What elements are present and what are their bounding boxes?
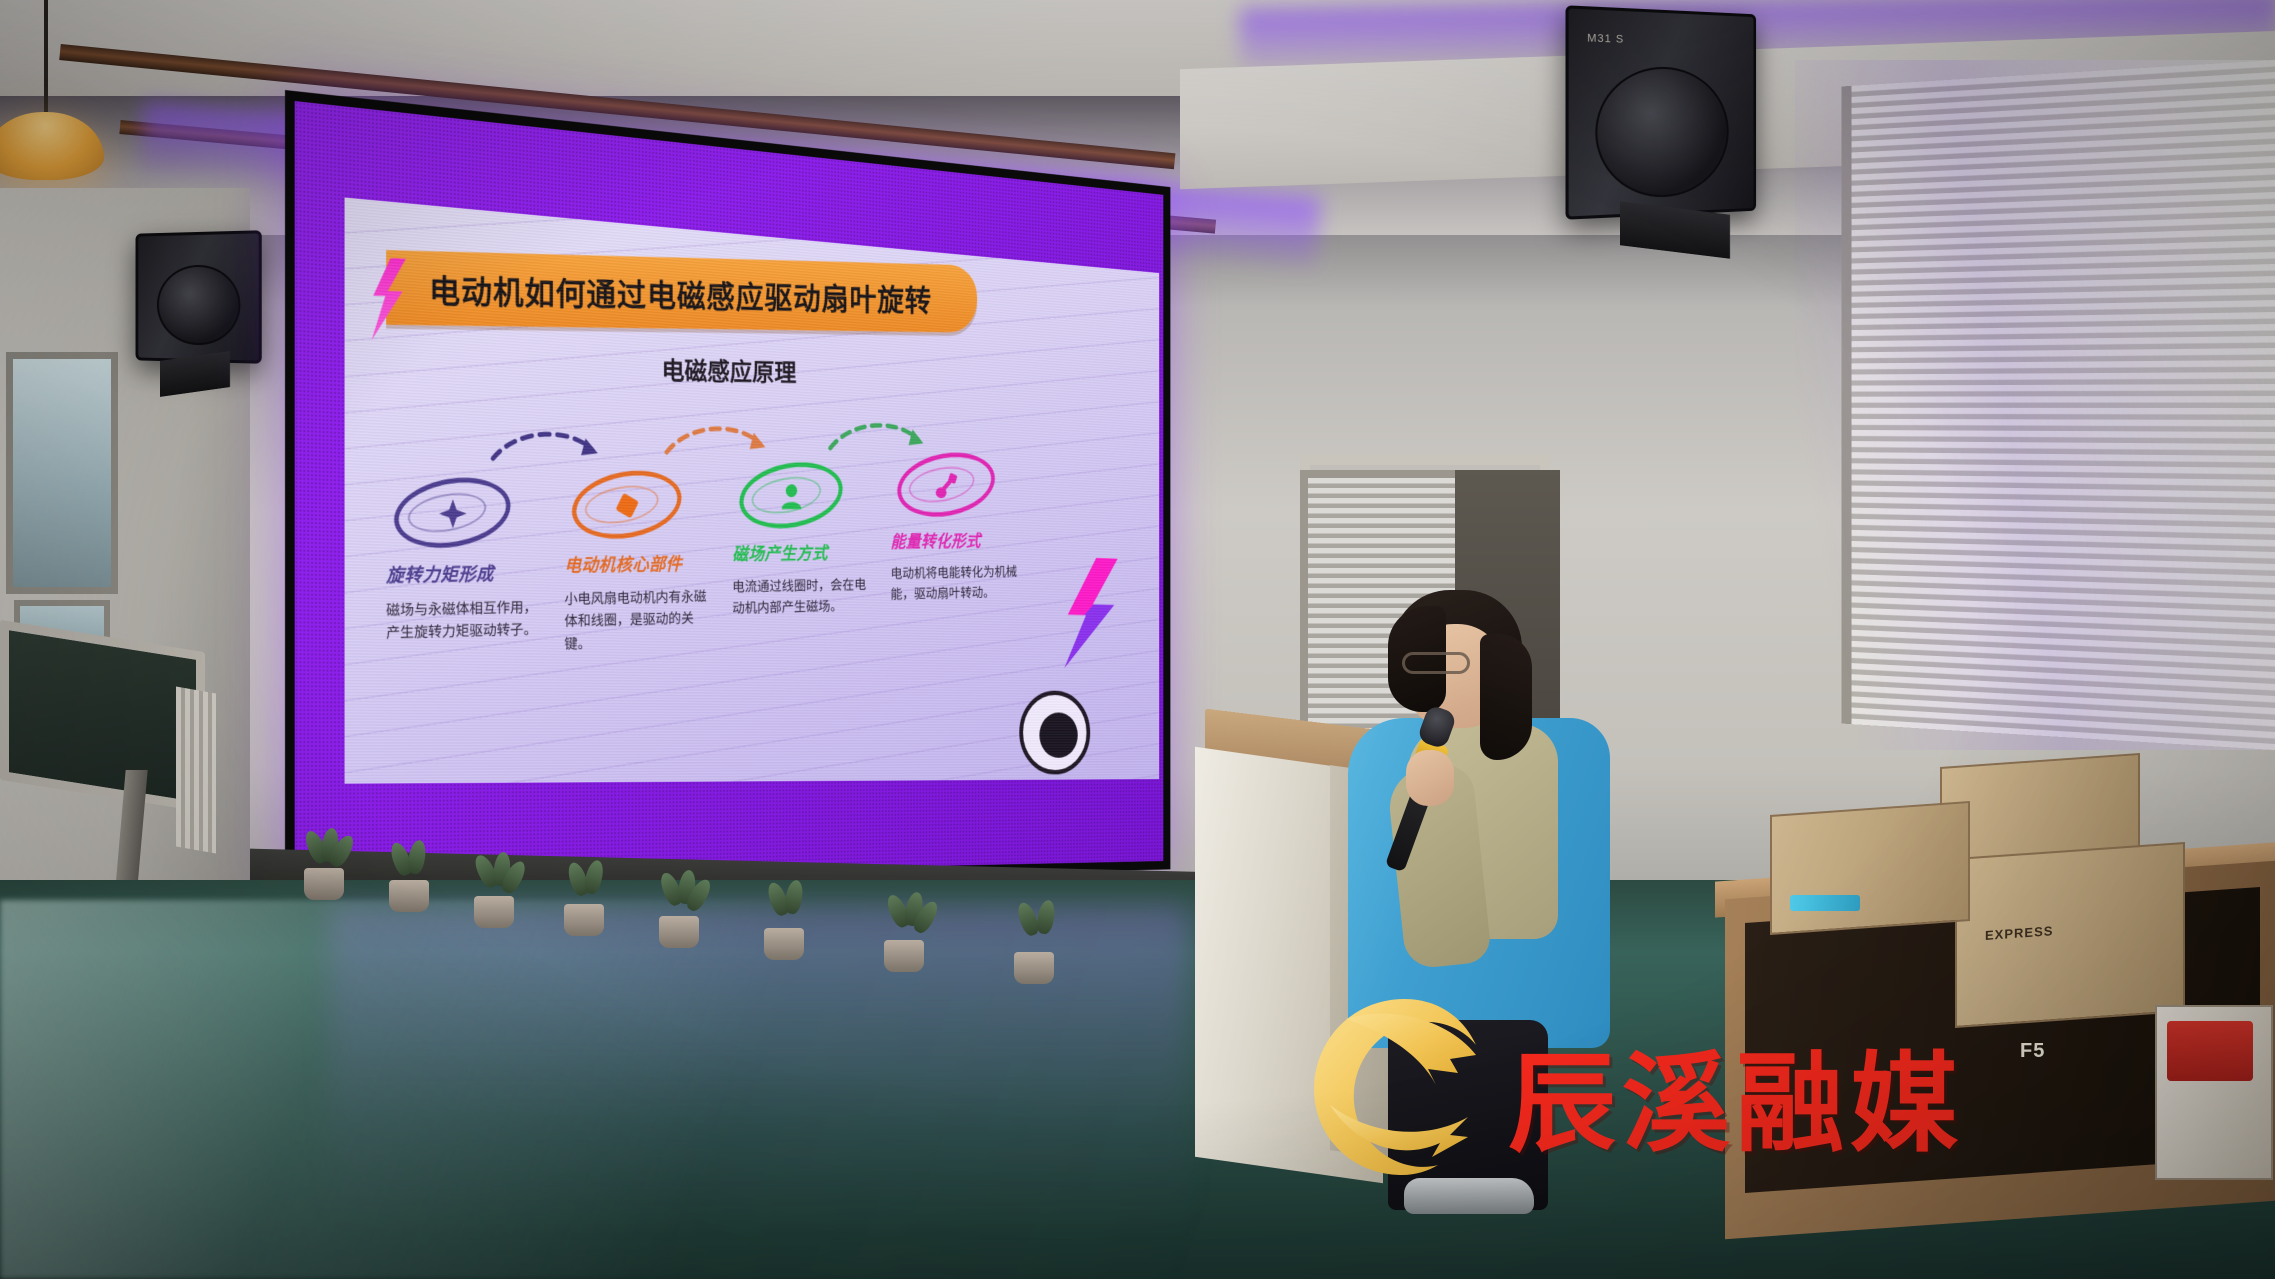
slide-column-3: 磁场产生方式 电流通过线圈时，会在电动机内部产生磁场。 <box>732 450 882 620</box>
column-3-heading: 磁场产生方式 <box>732 539 882 565</box>
crescent-swoosh-logo <box>1300 985 1510 1185</box>
blackboard <box>0 620 205 812</box>
led-display-wall[interactable]: 电动机如何通过电磁感应驱动扇叶旋转 电磁感应原理 <box>285 90 1170 890</box>
photo-scene: M31 S 电动机如何通过电磁感应驱动扇叶旋转 电磁感应原理 <box>0 0 2275 1279</box>
potted-plant <box>470 852 526 928</box>
potted-plant <box>560 860 616 936</box>
column-3-body: 电流通过线圈时，会在电动机内部产生磁场。 <box>732 575 875 620</box>
watermark: 辰溪融媒 <box>1300 975 1970 1205</box>
column-2-icon-wrap <box>564 458 724 546</box>
slide-subtitle: 电磁感应原理 <box>662 350 797 389</box>
speaker-cone <box>1595 66 1728 200</box>
speaker-left <box>136 230 262 363</box>
potted-plant <box>300 828 356 900</box>
speaker-brand-label: M31 S <box>1587 32 1624 46</box>
potted-plant <box>385 840 441 912</box>
column-4-body: 电动机将电能转化为机械能，驱动扇叶转动。 <box>891 562 1026 606</box>
potted-plant <box>1010 900 1070 984</box>
cardboard-box-large: EXPRESS <box>1955 842 2185 1028</box>
pin-icon <box>931 468 962 504</box>
slide-column-2: 电动机核心部件 小电风扇电动机内有永磁体和线圈，是驱动的关键。 <box>564 458 724 655</box>
shelf-label: F5 <box>2020 1040 2045 1063</box>
radiator <box>176 686 216 853</box>
left-window <box>6 352 118 594</box>
column-3-icon-wrap <box>732 450 882 535</box>
presenter-hair-right <box>1480 634 1532 760</box>
product-box <box>2155 1005 2273 1180</box>
potted-plant <box>655 870 711 948</box>
speaker-right: M31 S <box>1566 5 1757 219</box>
column-4-heading: 能量转化形式 <box>891 528 1033 553</box>
presenter-glasses <box>1402 652 1470 674</box>
slide-columns: 旋转力矩形成 磁场与永磁体相互作用，产生旋转力矩驱动转子。 电动机核心部件 小电… <box>365 409 1152 711</box>
window-light-glow <box>1795 60 2275 750</box>
column-4-icon-wrap <box>891 441 1033 524</box>
slide-title-ribbon: 电动机如何通过电磁感应驱动扇叶旋转 <box>386 250 977 333</box>
speaker-cone-left <box>157 264 241 345</box>
column-2-heading: 电动机核心部件 <box>564 550 724 577</box>
column-1-body: 磁场与永磁体相互作用，产生旋转力矩驱动转子。 <box>386 596 547 645</box>
slide-column-1: 旋转力矩形成 磁场与永磁体相互作用，产生旋转力矩驱动转子。 <box>386 465 555 645</box>
cardboard-box-left <box>1770 801 1970 935</box>
blue-item <box>1790 895 1860 911</box>
potted-plant <box>880 892 938 972</box>
star-badge-icon <box>434 494 471 533</box>
column-2-body: 小电风扇电动机内有永磁体和线圈，是驱动的关键。 <box>564 586 715 655</box>
column-1-icon-wrap <box>386 465 555 555</box>
slide-column-4: 能量转化形式 电动机将电能转化为机械能，驱动扇叶转动。 <box>891 441 1033 606</box>
person-icon <box>775 478 808 515</box>
diamond-icon <box>610 487 645 525</box>
watermark-text: 辰溪融媒 <box>1508 1017 1964 1173</box>
presentation-slide: 电动机如何通过电磁感应驱动扇叶旋转 电磁感应原理 <box>345 198 1160 784</box>
potted-plant <box>760 880 818 960</box>
slide-title: 电动机如何通过电磁感应驱动扇叶旋转 <box>429 264 932 320</box>
column-1-heading: 旋转力矩形成 <box>386 559 555 588</box>
presenter-hand <box>1406 750 1454 806</box>
lamp-cord <box>44 0 48 118</box>
decorative-eye-icon <box>1019 690 1090 774</box>
